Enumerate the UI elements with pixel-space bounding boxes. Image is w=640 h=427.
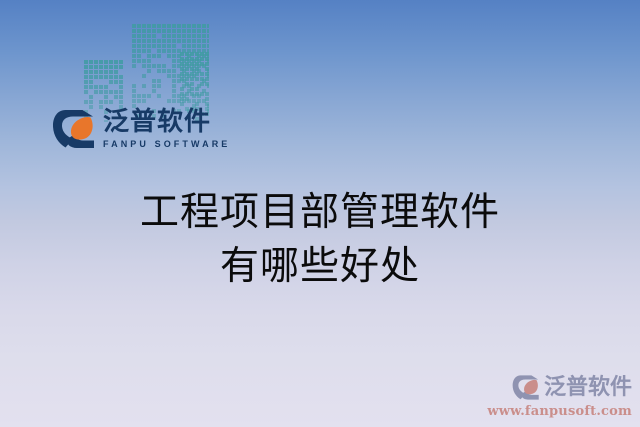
watermark-name-cn: 泛普软件 [544, 377, 632, 399]
watermark: 泛普软件 www.fanpusoft.com [484, 374, 632, 419]
brand-logo: 泛普软件 FANPU SOFTWARE [52, 108, 230, 150]
fanpu-watermark-mark-icon [512, 374, 540, 401]
watermark-url: www.fanpusoft.com [484, 404, 632, 419]
brand-name-en: FANPU SOFTWARE [103, 140, 230, 149]
page-title-line-2: 有哪些好处 [0, 240, 640, 294]
promo-banner: 泛普软件 FANPU SOFTWARE 工程项目部管理软件 有哪些好处 泛普软件… [0, 0, 640, 427]
brand-name-cn: 泛普软件 [103, 109, 230, 135]
page-title-line-1: 工程项目部管理软件 [0, 186, 640, 240]
watermark-logo-row: 泛普软件 [484, 374, 632, 401]
fanpu-logo-mark-icon [52, 108, 96, 150]
brand-logo-text: 泛普软件 FANPU SOFTWARE [103, 109, 230, 149]
page-title: 工程项目部管理软件 有哪些好处 [0, 186, 640, 294]
